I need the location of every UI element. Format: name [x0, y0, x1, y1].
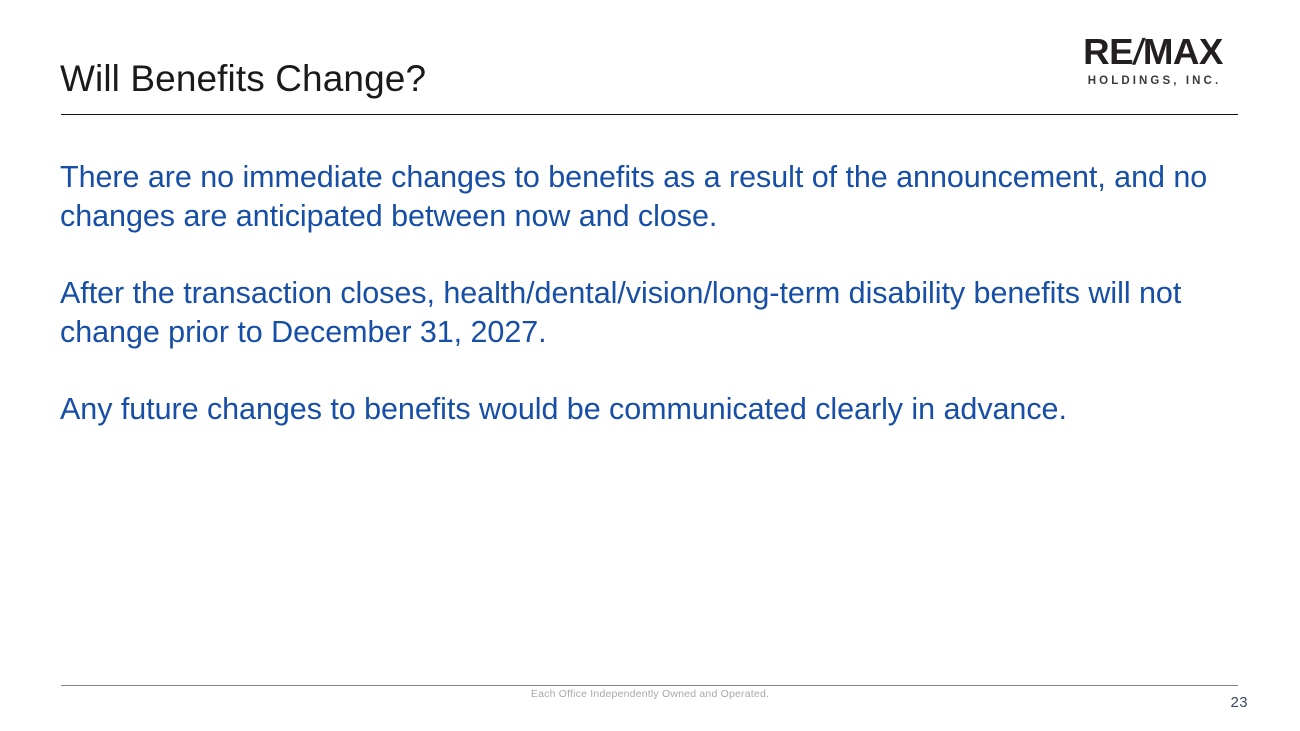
footer-disclaimer: Each Office Independently Owned and Oper… [0, 688, 1300, 700]
logo-text-max: MAX [1143, 31, 1223, 72]
logo-subtitle: HOLDINGS, INC. [1067, 75, 1239, 87]
slide-page-number: 23 [1231, 694, 1249, 711]
body-content: There are no immediate changes to benefi… [60, 158, 1220, 429]
footer-divider [61, 685, 1238, 686]
logo-text-re: RE [1083, 31, 1133, 72]
body-paragraph-3: Any future changes to benefits would be … [60, 390, 1220, 429]
page-title: Will Benefits Change? [60, 58, 426, 101]
remax-wordmark: RE/MAX [1065, 34, 1240, 70]
body-paragraph-2: After the transaction closes, health/den… [60, 274, 1220, 352]
remax-holdings-logo: RE/MAX HOLDINGS, INC. [1067, 34, 1239, 87]
title-divider [61, 114, 1238, 115]
slide-canvas: Will Benefits Change? RE/MAX HOLDINGS, I… [0, 0, 1300, 731]
body-paragraph-1: There are no immediate changes to benefi… [60, 158, 1220, 236]
